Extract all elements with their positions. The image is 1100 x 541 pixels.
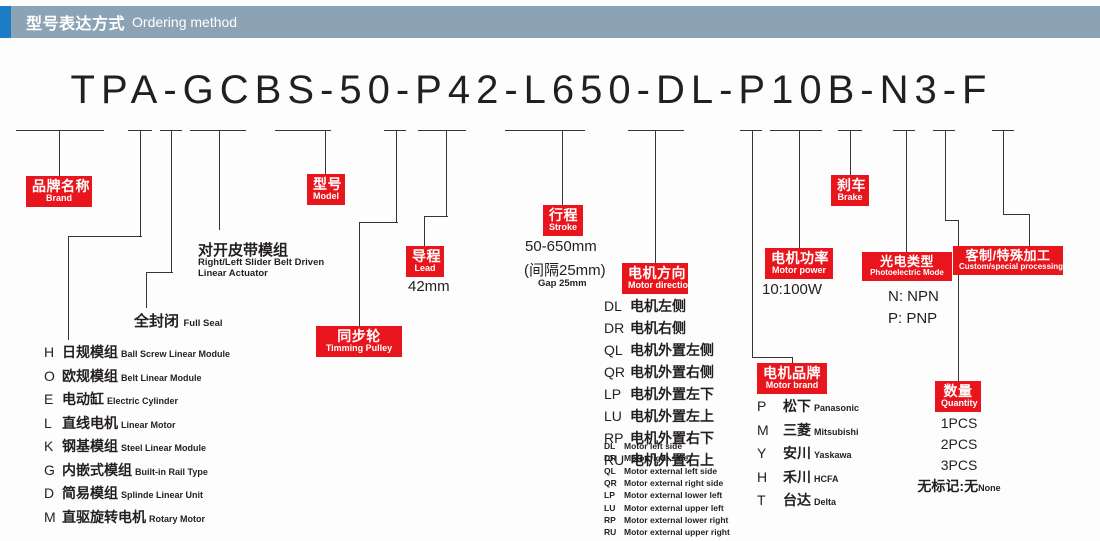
list-item: Y安川Yaskawa <box>757 443 859 463</box>
tag-lead-en: Lead <box>412 264 438 273</box>
list-item: QR电机外置右侧 <box>604 362 714 382</box>
tag-model-cn: 型号 <box>313 177 339 191</box>
brand-cn: 禾川 <box>783 467 811 487</box>
module-key: E <box>44 391 62 407</box>
connector-fullseal-elbow <box>146 272 173 273</box>
module-en: Electric Cylinder <box>107 396 178 406</box>
legend-row: QLMotor external left side <box>604 465 730 477</box>
brand-key: M <box>757 422 783 438</box>
tag-stroke-en: Stroke <box>549 223 577 232</box>
direction-cn: 电机左侧 <box>630 296 686 316</box>
direction-key: QR <box>604 364 630 380</box>
motor-power-value: 10:100W <box>762 281 822 298</box>
tag-lead-cn: 导程 <box>412 249 438 263</box>
direction-key: DR <box>604 320 630 336</box>
module-key: H <box>44 344 62 360</box>
connector-belt-underline <box>190 130 246 131</box>
fullseal-label: 全封闭 Full Seal <box>134 310 223 331</box>
tag-motor-brand-en: Motor brand <box>763 381 821 390</box>
tag-lead: 导程 Lead <box>406 246 444 277</box>
connector-power-underline <box>770 130 822 131</box>
tag-motor-direction: 电机方向 Motor direction <box>622 263 688 294</box>
tag-photoelectric-en: Photoelectric Mode <box>868 269 946 277</box>
module-en: Splinde Linear Unit <box>121 490 203 500</box>
tag-brake: 刹车 Brake <box>831 175 869 206</box>
brand-key: T <box>757 492 783 508</box>
direction-key: QL <box>604 342 630 358</box>
connector-custom-elbow <box>1003 214 1029 215</box>
brand-key: Y <box>757 445 783 461</box>
module-key: M <box>44 509 62 525</box>
brand-cn: 松下 <box>783 396 811 416</box>
quantity-none-en: None <box>978 483 1001 493</box>
tag-pulley-en: Timming Pulley <box>322 344 396 353</box>
direction-cn: 电机外置右侧 <box>630 362 714 382</box>
module-cn: 日规模组 <box>62 342 118 362</box>
module-key: O <box>44 368 62 384</box>
tag-stroke: 行程 Stroke <box>543 205 583 236</box>
tag-pulley: 同步轮 Timming Pulley <box>316 326 402 357</box>
connector-fullseal-elbow-drop <box>146 272 147 308</box>
connector-pulley-underline <box>384 130 406 131</box>
legend-en: Motor right side <box>624 452 688 464</box>
brand-en: Panasonic <box>814 403 859 413</box>
tag-model: 型号 Model <box>307 174 345 205</box>
tag-quantity-cn: 数量 <box>941 384 975 398</box>
direction-key: LP <box>604 386 630 402</box>
legend-en: Motor left side <box>624 440 682 452</box>
direction-cn: 电机右侧 <box>630 318 686 338</box>
lead-value: 42mm <box>408 278 450 295</box>
connector-custom-drop <box>1003 130 1004 214</box>
connector-direction-drop <box>655 130 656 263</box>
motor-brand-list: P松下Panasonic M三菱Mitsubishi Y安川Yaskawa H禾… <box>757 396 859 514</box>
direction-cn: 电机外置左侧 <box>630 340 714 360</box>
connector-model-underline <box>275 130 331 131</box>
tag-brake-en: Brake <box>837 193 863 202</box>
tag-brand-en: Brand <box>32 194 86 203</box>
header-accent-bar <box>0 6 11 38</box>
legend-key: QR <box>604 477 624 489</box>
tag-brand-cn: 品牌名称 <box>32 179 86 193</box>
tag-custom-processing-cn: 客制/特殊加工 <box>959 249 1057 262</box>
belt-series-label-en2: Linear Actuator <box>198 269 268 280</box>
list-item: M三菱Mitsubishi <box>757 420 859 440</box>
tag-motor-power-en: Motor power <box>771 266 827 275</box>
brand-key: P <box>757 398 783 414</box>
module-en: Ball Screw Linear Module <box>121 349 230 359</box>
brand-en: HCFA <box>814 474 839 484</box>
module-cn: 电动缸 <box>62 389 104 409</box>
brand-cn: 三菱 <box>783 420 811 440</box>
connector-photo-underline <box>893 130 915 131</box>
brand-key: H <box>757 469 783 485</box>
tag-model-en: Model <box>313 192 339 201</box>
tag-custom-processing-en: Custom/special processing <box>959 263 1057 271</box>
module-key: G <box>44 462 62 478</box>
module-en: Rotary Motor <box>149 514 205 524</box>
legend-row: QRMotor external right side <box>604 477 730 489</box>
tag-pulley-cn: 同步轮 <box>322 329 396 343</box>
brand-cn: 台达 <box>783 490 811 510</box>
legend-row: LUMotor external upper left <box>604 502 730 514</box>
tag-motor-direction-cn: 电机方向 <box>628 266 682 280</box>
list-item: DR电机右侧 <box>604 318 714 338</box>
legend-row: DLMotor left side <box>604 440 730 452</box>
module-cn: 直驱旋转电机 <box>62 507 146 527</box>
connector-stroke-drop <box>562 130 563 205</box>
module-key: D <box>44 485 62 501</box>
photoelectric-option: P: PNP <box>888 308 939 330</box>
connector-pulley-elbow <box>359 222 398 223</box>
connector-quantity-elbow <box>945 220 958 221</box>
list-item: T台达Delta <box>757 490 859 510</box>
tag-motor-power-cn: 电机功率 <box>771 251 827 265</box>
legend-row: RUMotor external upper right <box>604 526 730 538</box>
connector-custom-elbow-drop <box>1029 214 1030 246</box>
module-cn: 欧规模组 <box>62 366 118 386</box>
quantity-options: 1PCS 2PCS 3PCS 无标记:无None <box>915 413 1003 497</box>
connector-brake-drop <box>850 130 851 175</box>
module-en: Steel Linear Module <box>121 443 206 453</box>
legend-row: LPMotor external lower left <box>604 489 730 501</box>
connector-quantity-underline <box>933 130 955 131</box>
tag-photoelectric: 光电类型 Photoelectric Mode <box>862 252 952 281</box>
brand-en: Delta <box>814 497 836 507</box>
module-key: K <box>44 438 62 454</box>
brand-en: Yaskawa <box>814 450 852 460</box>
list-item: DL电机左侧 <box>604 296 714 316</box>
legend-key: QL <box>604 465 624 477</box>
list-item: LP电机外置左下 <box>604 384 714 404</box>
connector-quantity-drop <box>945 130 946 220</box>
tag-quantity: 数量 Quantity <box>935 381 981 412</box>
connector-brand-drop <box>59 130 60 176</box>
connector-quantity-elbow-drop <box>958 220 959 381</box>
connector-moduletype-drop <box>140 130 141 236</box>
list-item: P松下Panasonic <box>757 396 859 416</box>
section-header-bar: 型号表达方式 Ordering method <box>0 6 1100 38</box>
tag-brand: 品牌名称 Brand <box>26 176 92 207</box>
connector-pulley-drop <box>396 130 397 222</box>
quantity-option: 1PCS <box>915 413 1003 434</box>
module-en: Belt Linear Module <box>121 373 202 383</box>
list-item: O欧规模组Belt Linear Module <box>44 366 230 386</box>
list-item: LU电机外置左上 <box>604 406 714 426</box>
connector-power-drop <box>799 130 800 248</box>
legend-en: Motor external lower left <box>624 489 722 501</box>
legend-row: DRMotor right side <box>604 452 730 464</box>
module-type-list: H日规模组Ball Screw Linear Module O欧规模组Belt … <box>44 342 230 530</box>
legend-key: LU <box>604 502 624 514</box>
module-cn: 简易模组 <box>62 483 118 503</box>
quantity-none-cn: 无标记:无 <box>917 478 978 494</box>
connector-moduletype-elbow <box>68 236 142 237</box>
list-item: L直线电机Linear Motor <box>44 413 230 433</box>
legend-en: Motor external left side <box>624 465 717 477</box>
brand-cn: 安川 <box>783 443 811 463</box>
list-item: H禾川HCFA <box>757 467 859 487</box>
module-cn: 钢基模组 <box>62 436 118 456</box>
tag-custom-processing: 客制/特殊加工 Custom/special processing <box>953 246 1063 275</box>
list-item: G内嵌式模组Built-in Rail Type <box>44 460 230 480</box>
stroke-range: 50-650mm <box>525 238 597 255</box>
connector-pulley-elbow-drop <box>359 222 360 326</box>
module-cn: 直线电机 <box>62 413 118 433</box>
connector-motorbrand-elbow <box>752 357 792 358</box>
connector-motorbrand-underline <box>740 130 762 131</box>
connector-belt-drop <box>219 130 220 230</box>
list-item: QL电机外置左侧 <box>604 340 714 360</box>
tag-motor-brand-cn: 电机品牌 <box>763 366 821 380</box>
list-item: H日规模组Ball Screw Linear Module <box>44 342 230 362</box>
photoelectric-options: N: NPN P: PNP <box>888 286 939 330</box>
connector-fullseal-drop <box>171 130 172 272</box>
connector-motorbrand-drop <box>752 130 753 357</box>
legend-row: RPMotor external lower right <box>604 514 730 526</box>
list-item: K钢基模组Steel Linear Module <box>44 436 230 456</box>
brand-en: Mitsubishi <box>814 427 859 437</box>
stroke-gap-en: Gap 25mm <box>538 279 587 290</box>
connector-lead-elbow <box>424 216 448 217</box>
legend-key: DR <box>604 452 624 464</box>
connector-moduletype-elbow-drop <box>68 236 69 340</box>
connector-photo-drop <box>906 130 907 253</box>
fullseal-label-en: Full Seal <box>183 318 222 329</box>
direction-key: DL <box>604 298 630 314</box>
legend-en: Motor external upper right <box>624 526 730 538</box>
header-title-en: Ordering method <box>132 14 237 30</box>
tag-motor-brand: 电机品牌 Motor brand <box>757 363 827 394</box>
legend-key: LP <box>604 489 624 501</box>
connector-direction-underline <box>628 130 684 131</box>
legend-en: Motor external right side <box>624 477 723 489</box>
direction-cn: 电机外置左下 <box>630 384 714 404</box>
quantity-option: 3PCS <box>915 455 1003 476</box>
connector-brand-underline <box>16 130 104 131</box>
list-item: D简易模组Splinde Linear Unit <box>44 483 230 503</box>
connector-stroke-underline <box>505 130 585 131</box>
tag-quantity-en: Quantity <box>941 399 975 408</box>
stroke-gap-cn: (间隔25mm) <box>524 259 606 280</box>
quantity-none: 无标记:无None <box>915 476 1003 497</box>
tag-brake-cn: 刹车 <box>837 178 863 192</box>
connector-model-drop <box>325 130 326 174</box>
fullseal-label-cn: 全封闭 <box>134 313 179 330</box>
legend-key: RU <box>604 526 624 538</box>
header-title-cn: 型号表达方式 <box>26 10 125 34</box>
connector-lead-underline <box>418 130 466 131</box>
legend-en: Motor external lower right <box>624 514 728 526</box>
tag-motor-power: 电机功率 Motor power <box>765 248 833 279</box>
connector-lead-elbow-drop <box>424 216 425 246</box>
legend-en: Motor external upper left <box>624 502 724 514</box>
module-key: L <box>44 415 62 431</box>
module-cn: 内嵌式模组 <box>62 460 132 480</box>
tag-photoelectric-cn: 光电类型 <box>868 255 946 268</box>
legend-key: DL <box>604 440 624 452</box>
module-en: Linear Motor <box>121 420 176 430</box>
legend-key: RP <box>604 514 624 526</box>
tag-motor-direction-en: Motor direction <box>628 281 682 290</box>
model-code: TPA-GCBS-50-P42-L650-DL-P10B-N3-F <box>0 68 1063 113</box>
motor-direction-legend: DLMotor left side DRMotor right side QLM… <box>604 440 730 539</box>
photoelectric-option: N: NPN <box>888 286 939 308</box>
header-title-group: 型号表达方式 Ordering method <box>26 6 237 38</box>
list-item: E电动缸Electric Cylinder <box>44 389 230 409</box>
connector-lead-drop <box>446 130 447 216</box>
direction-cn: 电机外置左上 <box>630 406 714 426</box>
list-item: M直驱旋转电机Rotary Motor <box>44 507 230 527</box>
quantity-option: 2PCS <box>915 434 1003 455</box>
direction-key: LU <box>604 408 630 424</box>
module-en: Built-in Rail Type <box>135 467 208 477</box>
tag-stroke-cn: 行程 <box>549 208 577 222</box>
